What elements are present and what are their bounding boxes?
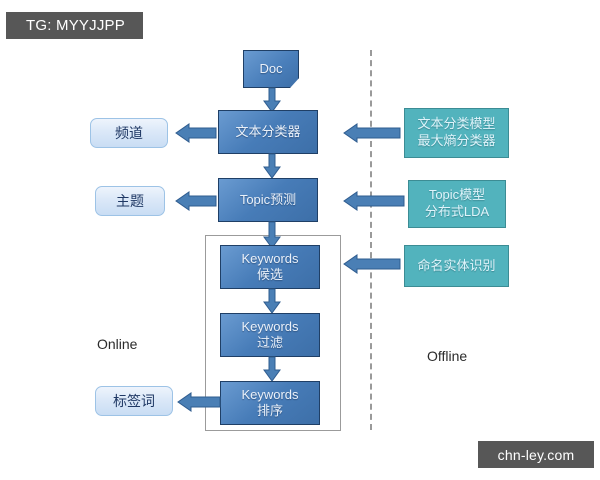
online-offline-divider xyxy=(370,50,372,430)
model-topic-lda-line1: Topic模型 xyxy=(429,187,485,204)
node-topic-prediction-label: Topic预测 xyxy=(240,192,296,208)
arrow-classifier-to-channel xyxy=(176,124,216,142)
output-channel-label: 频道 xyxy=(115,123,143,143)
arrow-ner-to-keywords-candidate xyxy=(344,255,400,273)
node-text-classifier[interactable]: 文本分类器 xyxy=(218,110,318,154)
node-keywords-rank[interactable]: Keywords 排序 xyxy=(220,381,320,425)
arrow-classifier-to-topic xyxy=(264,154,280,178)
output-tag-words-label: 标签词 xyxy=(113,391,155,411)
model-text-classification-line1: 文本分类模型 xyxy=(417,116,495,133)
model-topic-lda[interactable]: Topic模型 分布式LDA xyxy=(408,180,506,228)
node-keywords-filter-line1: Keywords xyxy=(241,319,298,335)
node-keywords-candidate-line1: Keywords xyxy=(241,251,298,267)
output-topic-label: 主题 xyxy=(116,191,144,211)
output-tag-words[interactable]: 标签词 xyxy=(95,386,173,416)
arrow-doc-to-classifier xyxy=(264,88,280,112)
arrow-topic-to-topic-output xyxy=(176,192,216,210)
node-keywords-filter-line2: 过滤 xyxy=(257,335,283,351)
arrow-filter-to-rank xyxy=(264,357,280,381)
output-topic[interactable]: 主题 xyxy=(95,186,165,216)
watermark-bottom: chn-ley.com xyxy=(478,441,594,468)
diagram-canvas: TG: MYYJJPP chn-ley.com Doc 文本分类器 Topic预… xyxy=(0,0,600,480)
output-channel[interactable]: 频道 xyxy=(90,118,168,148)
node-keywords-candidate-line2: 候选 xyxy=(257,267,283,283)
node-keywords-filter[interactable]: Keywords 过滤 xyxy=(220,313,320,357)
label-online: Online xyxy=(97,336,137,352)
node-keywords-candidate[interactable]: Keywords 候选 xyxy=(220,245,320,289)
model-ner-line1: 命名实体识别 xyxy=(417,258,495,275)
node-keywords-rank-line1: Keywords xyxy=(241,387,298,403)
arrow-text-model-to-classifier xyxy=(344,124,400,142)
arrow-topic-model-to-topic xyxy=(344,192,404,210)
model-named-entity-recognition[interactable]: 命名实体识别 xyxy=(404,245,509,287)
node-topic-prediction[interactable]: Topic预测 xyxy=(218,178,318,222)
node-keywords-rank-line2: 排序 xyxy=(257,403,283,419)
node-doc[interactable]: Doc xyxy=(243,50,299,88)
model-topic-lda-line2: 分布式LDA xyxy=(425,204,489,221)
node-doc-label: Doc xyxy=(259,61,282,77)
watermark-top: TG: MYYJJPP xyxy=(6,12,143,39)
label-offline: Offline xyxy=(427,348,467,364)
model-text-classification-line2: 最大熵分类器 xyxy=(417,133,495,150)
arrow-candidate-to-filter xyxy=(264,289,280,313)
arrow-rank-to-tag-words xyxy=(178,393,220,411)
model-text-classification[interactable]: 文本分类模型 最大熵分类器 xyxy=(404,108,509,158)
node-text-classifier-label: 文本分类器 xyxy=(235,124,300,140)
